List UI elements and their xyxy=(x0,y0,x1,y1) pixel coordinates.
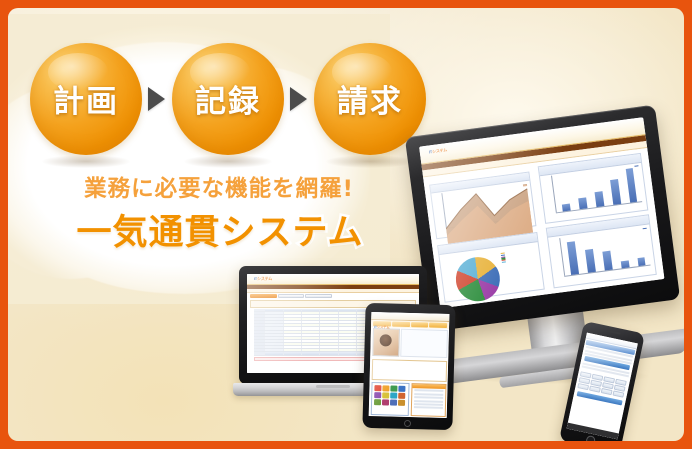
pie-chart-plot xyxy=(454,255,503,304)
area-chart-legend xyxy=(523,183,527,186)
bar2-plot xyxy=(562,228,651,276)
news-line xyxy=(414,406,443,409)
news-line xyxy=(414,393,443,396)
news-line xyxy=(414,400,443,403)
phone-speaker xyxy=(607,330,621,335)
bar1-legend xyxy=(635,165,639,167)
chart-panel-bar-2[interactable] xyxy=(546,214,657,288)
phone-home-button[interactable] xyxy=(585,435,596,441)
monitor-screen[interactable]: ITシステム xyxy=(419,117,664,308)
news-widget[interactable] xyxy=(410,383,446,418)
news-line xyxy=(414,396,443,399)
dashboard-app: ITシステム xyxy=(419,117,664,308)
tablet-home-button[interactable] xyxy=(404,420,411,427)
profile-photo xyxy=(372,328,400,357)
chart-panel-bar-1[interactable] xyxy=(538,153,649,224)
news-line xyxy=(414,390,443,393)
chart-panel-area[interactable] xyxy=(429,171,537,239)
phone-screen[interactable] xyxy=(567,333,638,440)
news-widget-title xyxy=(412,384,445,389)
tablet-device[interactable]: ITシステム xyxy=(362,303,455,430)
news-line xyxy=(414,403,443,406)
table-app-header: ITシステム xyxy=(247,274,419,285)
app-logo: ITシステム xyxy=(429,147,448,155)
banner-canvas: 計画 記録 請求 業務に必要な機能を網羅! 一気通貫システム xyxy=(8,8,684,441)
dashboard-body xyxy=(423,148,664,308)
laptop-logo-secondary: システム xyxy=(257,276,272,281)
pie-chart-legend xyxy=(501,253,506,263)
app-logo-secondary: システム xyxy=(432,147,448,154)
monitor-bezel: ITシステム xyxy=(405,105,680,332)
portal-lower-widgets xyxy=(369,382,448,418)
profile-info xyxy=(400,329,447,358)
laptop-trackpad-notch xyxy=(316,385,350,388)
chart-panel-pie[interactable] xyxy=(437,232,545,303)
portal-profile-widget[interactable] xyxy=(370,327,449,360)
table-app-toolbar[interactable] xyxy=(247,293,419,299)
mobile-form-app xyxy=(567,333,638,440)
app-icon-grid[interactable] xyxy=(370,382,410,417)
tablet-screen[interactable]: ITシステム xyxy=(369,312,450,418)
bar2-legend xyxy=(643,227,647,229)
portal-app: ITシステム xyxy=(369,312,450,418)
device-group: ITシステム xyxy=(8,8,684,441)
promo-banner: 計画 記録 請求 業務に必要な機能を網羅! 一気通貫システム xyxy=(0,0,692,449)
step-invoice-label: 請求 xyxy=(337,76,403,121)
step-plan-label: 計画 xyxy=(53,76,119,121)
calendar-widget[interactable] xyxy=(371,359,447,382)
step-record-label: 記録 xyxy=(195,76,261,121)
laptop-app-logo: ITシステム xyxy=(254,276,272,282)
tablet-bezel: ITシステム xyxy=(362,303,455,430)
